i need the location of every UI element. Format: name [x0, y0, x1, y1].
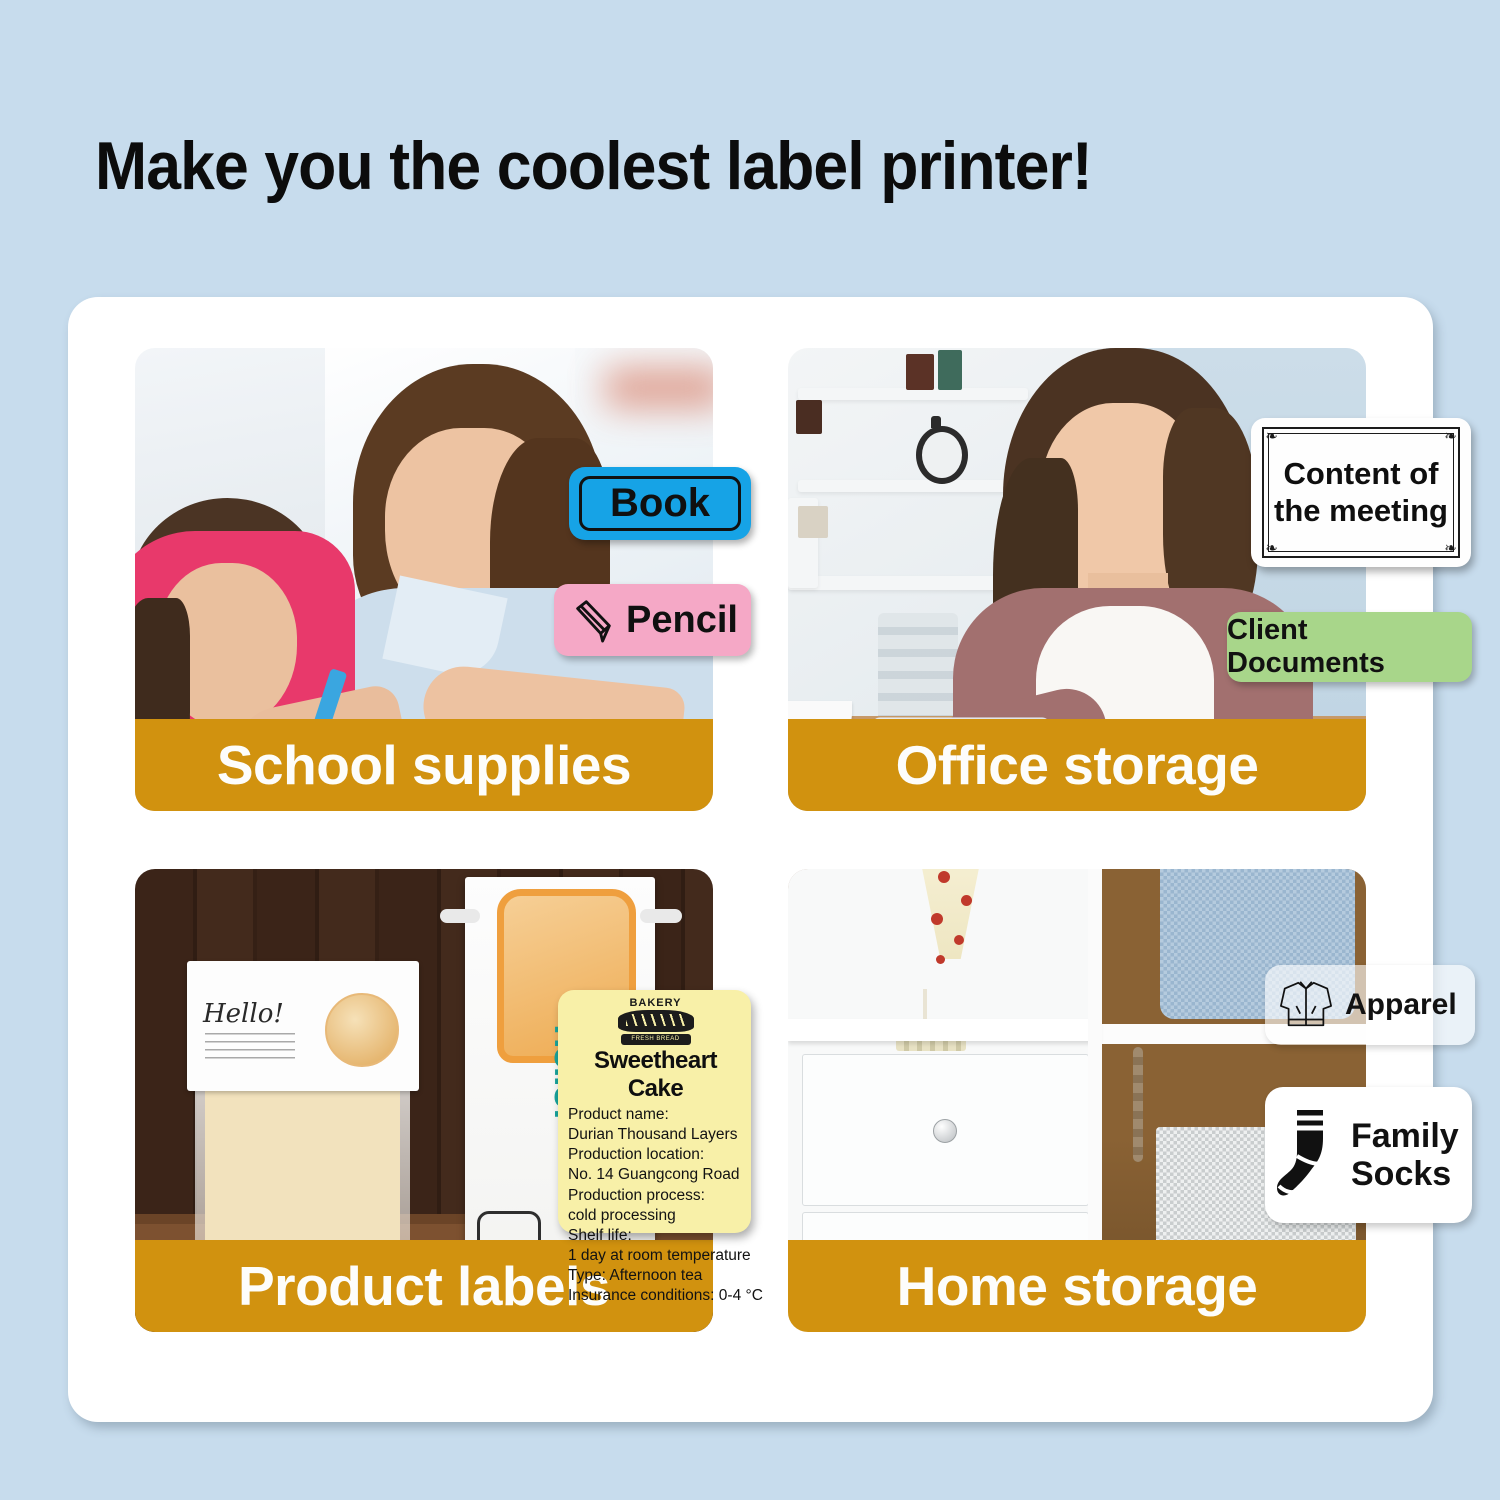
label-family-socks[interactable]: Family Socks	[1265, 1087, 1472, 1223]
corner-flourish-icon: ❧	[1264, 429, 1279, 444]
bakery-logo-icon: BAKERY FRESH BREAD	[568, 997, 743, 1045]
apparel-label-text: Apparel	[1345, 988, 1457, 1022]
pencil-icon	[570, 597, 616, 643]
family-socks-text: Family Socks	[1351, 1117, 1459, 1193]
cake-label-lines: Product name: Durian Thousand Layers Pro…	[568, 1105, 743, 1306]
corner-flourish-icon: ❧	[1264, 541, 1279, 556]
rolling-pin-banner: FRESH BREAD	[621, 1034, 691, 1045]
bread-loaf-icon	[618, 1010, 694, 1032]
client-documents-text: Client Documents	[1227, 614, 1472, 680]
corner-flourish-icon: ❧	[1443, 429, 1458, 444]
label-pencil[interactable]: Pencil	[554, 584, 751, 656]
label-client-documents[interactable]: Client Documents	[1227, 612, 1472, 682]
label-book[interactable]: Book	[569, 467, 751, 540]
caption-office-storage: Office storage	[788, 719, 1366, 811]
label-sweetheart-cake[interactable]: BAKERY FRESH BREAD Sweetheart Cake Produ…	[558, 990, 751, 1233]
label-meeting[interactable]: ❧ ❧ ❧ ❧ Content of the meeting	[1251, 418, 1471, 567]
pencil-label-text: Pencil	[626, 599, 738, 642]
meeting-label-text: Content of the meeting	[1274, 456, 1448, 529]
corner-flourish-icon: ❧	[1443, 541, 1458, 556]
jacket-icon	[1275, 977, 1337, 1033]
sock-icon	[1273, 1104, 1345, 1206]
caption-home-storage: Home storage	[788, 1240, 1366, 1332]
book-label-text: Book	[610, 481, 710, 526]
cake-label-title: Sweetheart Cake	[568, 1047, 743, 1103]
label-apparel[interactable]: Apparel	[1265, 965, 1475, 1045]
page-title: Make you the coolest label printer!	[95, 132, 1092, 200]
caption-school-supplies: School supplies	[135, 719, 713, 811]
bakery-logo-text: BAKERY	[568, 997, 743, 1009]
panel-school-supplies[interactable]: School supplies	[135, 348, 713, 811]
